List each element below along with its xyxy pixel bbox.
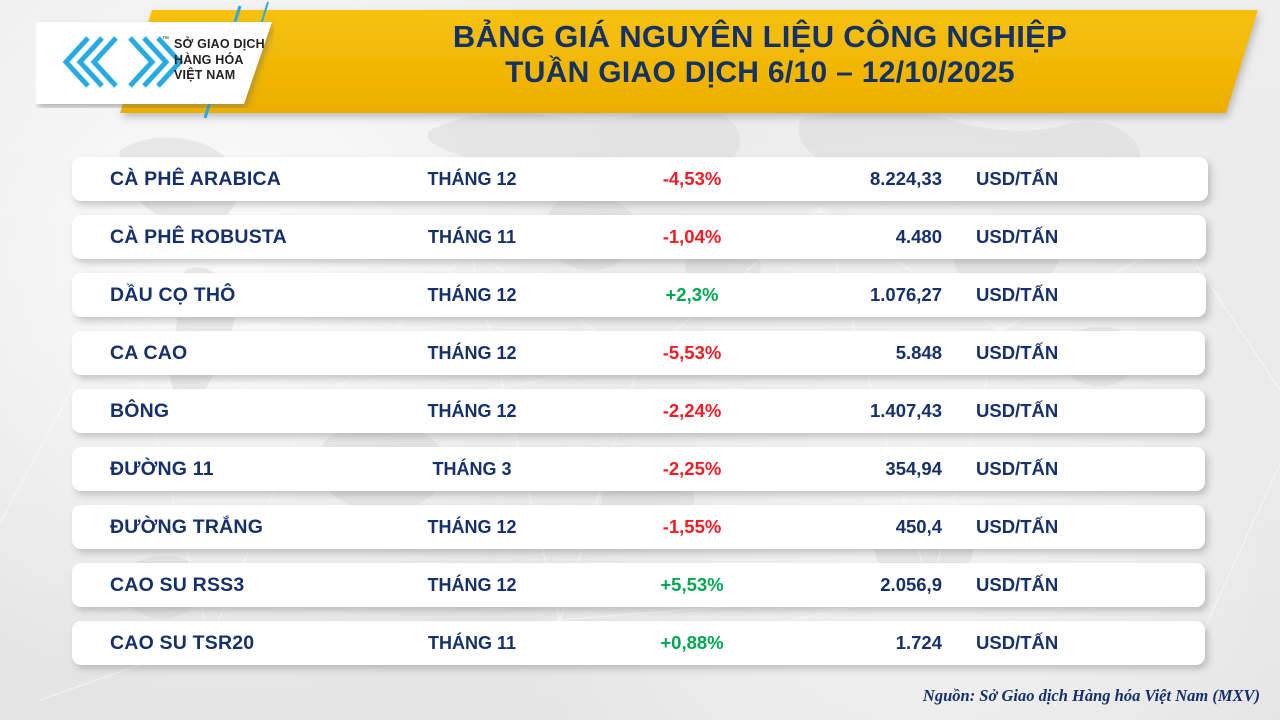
price-table: CÀ PHÊ ARABICATHÁNG 12-4,53%8.224,33USD/… bbox=[0, 157, 1280, 679]
table-row[interactable]: CA CAOTHÁNG 12-5,53%5.848USD/TẤN bbox=[72, 331, 1205, 375]
contract-month: THÁNG 11 bbox=[372, 215, 572, 259]
source-note: Nguồn: Sở Giao dịch Hàng hóa Việt Nam (M… bbox=[923, 686, 1260, 706]
table-row[interactable]: CAO SU TSR20THÁNG 11+0,88%1.724USD/TẤN bbox=[72, 621, 1205, 665]
commodity-name: CÀ PHÊ ROBUSTA bbox=[110, 215, 287, 259]
price-unit: USD/TẤN bbox=[976, 157, 1058, 201]
price-change: -2,24% bbox=[602, 389, 782, 433]
contract-month: THÁNG 12 bbox=[372, 563, 572, 607]
title-line-2: TUẦN GIAO DỊCH 6/10 – 12/10/2025 bbox=[300, 55, 1220, 91]
price-change: -2,25% bbox=[602, 447, 782, 491]
table-row[interactable]: ĐƯỜNG TRẮNGTHÁNG 12-1,55%450,4USD/TẤN bbox=[72, 505, 1205, 549]
price-value: 5.848 bbox=[772, 331, 942, 375]
table-row[interactable]: BÔNGTHÁNG 12-2,24%1.407,43USD/TẤN bbox=[72, 389, 1205, 433]
header-banner: BẢNG GIÁ NGUYÊN LIỆU CÔNG NGHIỆP TUẦN GI… bbox=[0, 0, 1280, 125]
logo: ™ SỞ GIAO DỊCH HÀNG HÓA VIỆT NAM bbox=[36, 16, 274, 108]
logo-line-3: VIỆT NAM bbox=[174, 68, 265, 84]
price-unit: USD/TẤN bbox=[976, 331, 1058, 375]
price-unit: USD/TẤN bbox=[976, 273, 1058, 317]
price-change: -1,55% bbox=[602, 505, 782, 549]
commodity-name: CAO SU TSR20 bbox=[110, 621, 254, 665]
price-change: +5,53% bbox=[602, 563, 782, 607]
contract-month: THÁNG 12 bbox=[372, 389, 572, 433]
commodity-name: CA CAO bbox=[110, 331, 187, 375]
price-change: +0,88% bbox=[602, 621, 782, 665]
logo-line-2: HÀNG HÓA bbox=[174, 53, 265, 69]
price-unit: USD/TẤN bbox=[976, 505, 1058, 549]
price-value: 2.056,9 bbox=[772, 563, 942, 607]
commodity-name: ĐƯỜNG TRẮNG bbox=[110, 505, 263, 549]
price-value: 1.407,43 bbox=[772, 389, 942, 433]
price-value: 4.480 bbox=[772, 215, 942, 259]
table-row[interactable]: DẦU CỌ THÔTHÁNG 12+2,3%1.076,27USD/TẤN bbox=[72, 273, 1206, 317]
table-row[interactable]: CÀ PHÊ ARABICATHÁNG 12-4,53%8.224,33USD/… bbox=[72, 157, 1208, 201]
page-title: BẢNG GIÁ NGUYÊN LIỆU CÔNG NGHIỆP TUẦN GI… bbox=[300, 19, 1220, 91]
contract-month: THÁNG 11 bbox=[372, 621, 572, 665]
price-unit: USD/TẤN bbox=[976, 215, 1058, 259]
price-value: 8.224,33 bbox=[772, 157, 942, 201]
contract-month: THÁNG 12 bbox=[372, 273, 572, 317]
commodity-name: DẦU CỌ THÔ bbox=[110, 273, 236, 317]
table-row[interactable]: CAO SU RSS3THÁNG 12+5,53%2.056,9USD/TẤN bbox=[72, 563, 1205, 607]
price-change: -1,04% bbox=[602, 215, 782, 259]
price-unit: USD/TẤN bbox=[976, 447, 1058, 491]
commodity-name: CAO SU RSS3 bbox=[110, 563, 244, 607]
price-value: 1.076,27 bbox=[772, 273, 942, 317]
commodity-name: CÀ PHÊ ARABICA bbox=[110, 157, 281, 201]
price-change: -5,53% bbox=[602, 331, 782, 375]
contract-month: THÁNG 12 bbox=[372, 331, 572, 375]
logo-line-1: SỞ GIAO DỊCH bbox=[174, 37, 265, 53]
price-value: 450,4 bbox=[772, 505, 942, 549]
trademark-symbol: ™ bbox=[162, 36, 169, 43]
price-change: +2,3% bbox=[602, 273, 782, 317]
price-change: -4,53% bbox=[602, 157, 782, 201]
price-unit: USD/TẤN bbox=[976, 621, 1058, 665]
price-value: 354,94 bbox=[772, 447, 942, 491]
table-row[interactable]: ĐƯỜNG 11THÁNG 3-2,25%354,94USD/TẤN bbox=[72, 447, 1205, 491]
logo-text: SỞ GIAO DỊCH HÀNG HÓA VIỆT NAM bbox=[174, 37, 265, 84]
contract-month: THÁNG 12 bbox=[372, 157, 572, 201]
price-value: 1.724 bbox=[772, 621, 942, 665]
contract-month: THÁNG 3 bbox=[372, 447, 572, 491]
contract-month: THÁNG 12 bbox=[372, 505, 572, 549]
price-unit: USD/TẤN bbox=[976, 389, 1058, 433]
price-unit: USD/TẤN bbox=[976, 563, 1058, 607]
table-row[interactable]: CÀ PHÊ ROBUSTATHÁNG 11-1,04%4.480USD/TẤN bbox=[72, 215, 1206, 259]
title-line-1: BẢNG GIÁ NGUYÊN LIỆU CÔNG NGHIỆP bbox=[300, 19, 1220, 55]
commodity-name: ĐƯỜNG 11 bbox=[110, 447, 214, 491]
commodity-name: BÔNG bbox=[110, 389, 169, 433]
